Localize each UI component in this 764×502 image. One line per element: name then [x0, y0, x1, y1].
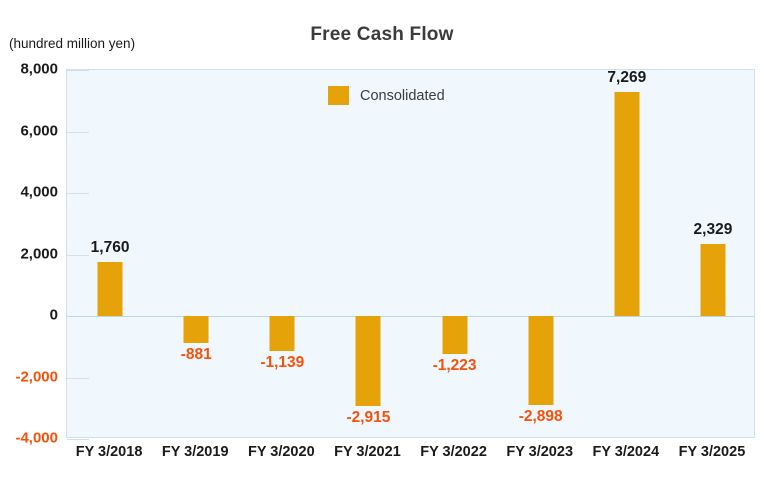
bar — [700, 244, 725, 316]
x-axis-label: FY 3/2025 — [679, 444, 746, 460]
plot-area: 1,760-881-1,139-2,915-1,223-2,8987,2692,… — [66, 69, 755, 438]
bar-value-label: -2,898 — [519, 408, 563, 426]
axis-unit-label: (hundred million yen) — [9, 36, 135, 51]
bar-value-label: 7,269 — [607, 69, 646, 87]
y-axis-tick — [67, 132, 89, 133]
x-axis-label: FY 3/2019 — [162, 444, 229, 460]
x-axis: FY 3/2018FY 3/2019FY 3/2020FY 3/2021FY 3… — [66, 444, 755, 470]
y-axis-tick — [67, 378, 89, 379]
bar — [356, 316, 381, 406]
y-axis-label: 0 — [0, 307, 58, 324]
bar-value-label: -1,139 — [260, 354, 304, 372]
y-axis-tick — [67, 255, 89, 256]
x-axis-label: FY 3/2024 — [592, 444, 659, 460]
y-axis-label: -2,000 — [0, 368, 58, 385]
y-axis-label: -4,000 — [0, 430, 58, 447]
legend-label-consolidated: Consolidated — [360, 88, 445, 104]
bar — [614, 92, 639, 316]
x-axis-label: FY 3/2018 — [76, 444, 143, 460]
y-axis-tick — [67, 70, 89, 71]
zero-baseline — [67, 316, 754, 317]
bar — [442, 316, 467, 354]
y-axis-tick — [67, 193, 89, 194]
chart-container: Free Cash Flow (hundred million yen) 8,0… — [0, 0, 764, 502]
x-axis-label: FY 3/2022 — [420, 444, 487, 460]
x-axis-label: FY 3/2023 — [506, 444, 573, 460]
y-axis-label: 2,000 — [0, 245, 58, 262]
bar — [98, 262, 123, 316]
y-axis: 8,0006,0004,0002,0000-2,000-4,000 — [0, 69, 58, 438]
x-axis-label: FY 3/2020 — [248, 444, 315, 460]
y-axis-label: 8,000 — [0, 61, 58, 78]
bar-value-label: 1,760 — [91, 239, 130, 257]
y-axis-label: 4,000 — [0, 184, 58, 201]
legend-swatch-consolidated — [328, 86, 349, 105]
bar-value-label: -1,223 — [433, 357, 477, 375]
chart-legend: Consolidated — [328, 86, 445, 105]
bar — [184, 316, 209, 343]
bar-value-label: 2,329 — [694, 221, 733, 239]
bar — [270, 316, 295, 351]
y-axis-label: 6,000 — [0, 122, 58, 139]
bar-value-label: -881 — [181, 346, 212, 364]
y-axis-tick — [67, 439, 89, 440]
bar-value-label: -2,915 — [346, 409, 390, 427]
x-axis-label: FY 3/2021 — [334, 444, 401, 460]
bar — [528, 316, 553, 405]
